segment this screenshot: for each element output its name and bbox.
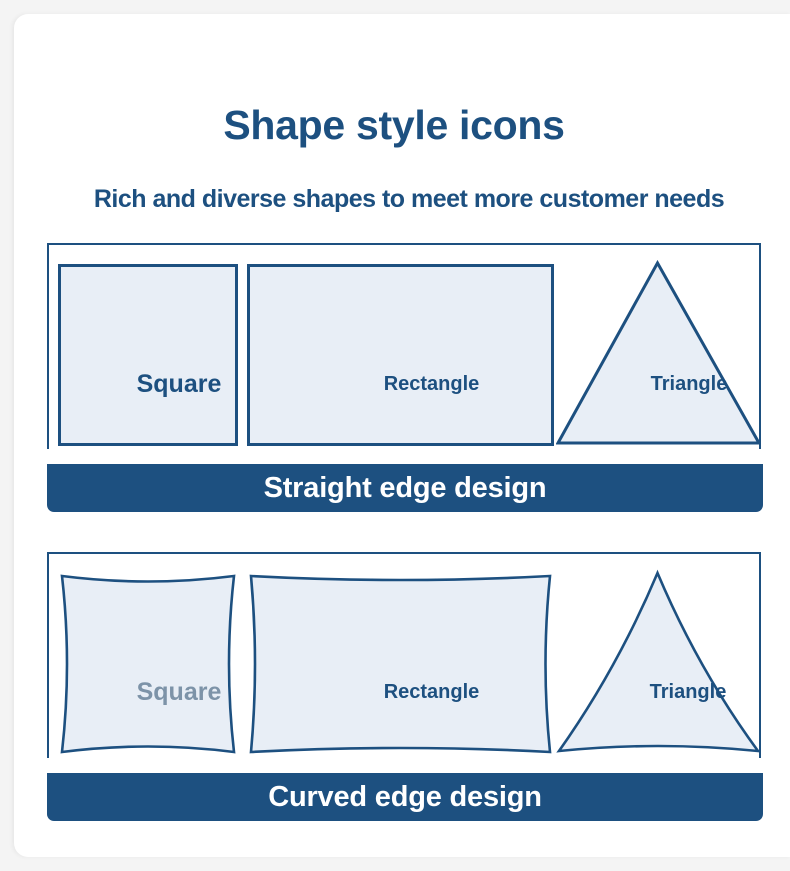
curved-edge-banner: Curved edge design [47,773,763,821]
curved-edge-section: Square Rectangle Triangle [47,552,763,758]
straight-edge-section: Square Rectangle Triangle [47,243,763,449]
curved-shape-panel [47,552,761,758]
rectangle-straight-icon[interactable] [247,264,554,446]
square-curved-icon[interactable] [58,573,238,755]
rectangle-curved-icon[interactable] [247,573,554,755]
straight-shape-area [49,245,763,451]
product-card: Shape style icons Rich and diverse shape… [14,14,790,857]
curved-edge-banner-label: Curved edge design [268,781,542,814]
triangle-straight-icon[interactable] [556,260,761,446]
straight-shape-panel [47,243,761,449]
curved-shape-area [49,554,763,760]
straight-edge-banner: Straight edge design [47,464,763,512]
page-root: Shape style icons Rich and diverse shape… [0,0,790,871]
page-title: Shape style icons [14,102,774,149]
triangle-curved-icon[interactable] [556,569,761,755]
straight-edge-banner-label: Straight edge design [264,472,547,505]
square-straight-icon[interactable] [58,264,238,446]
page-subtitle: Rich and diverse shapes to meet more cus… [14,185,790,214]
